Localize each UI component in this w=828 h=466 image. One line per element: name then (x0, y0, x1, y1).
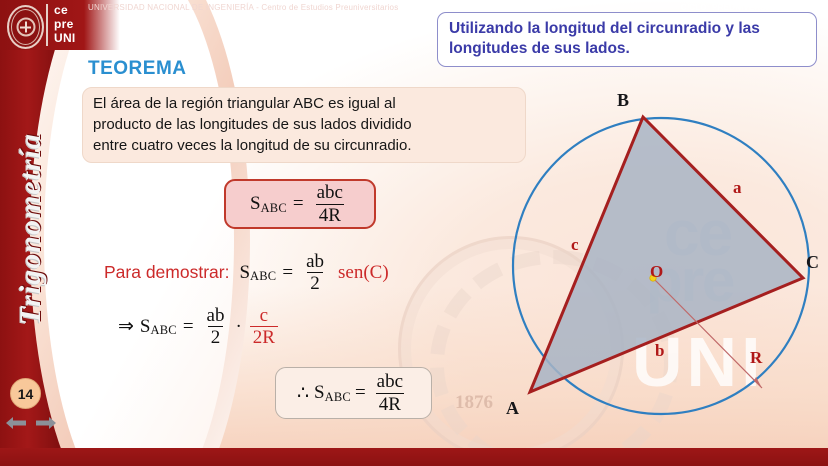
demostrar-lhs: S (239, 262, 250, 284)
step-lhs-sub: ABC (151, 323, 177, 338)
demostrar-lhs-sub: ABC (250, 269, 276, 284)
side-label-a: a (733, 178, 742, 198)
step-arrow: ⇒ (118, 315, 134, 338)
brand-logo-line-2: pre (54, 17, 76, 31)
step-row: ⇒ SABC = ab 2 · c 2R (118, 306, 282, 348)
step-fraction-1: ab 2 (204, 306, 228, 348)
demostrar-row: Para demostrar: SABC = ab 2 sen(C) (104, 252, 389, 294)
statement-line-2: producto de las longitudes de sus lados … (93, 114, 515, 135)
side-label-b: b (655, 341, 664, 361)
step-eq: = (183, 316, 194, 338)
page-number-badge: 14 (10, 378, 41, 409)
page-title: TEOREMA (88, 58, 187, 80)
formula-main-fraction: abc 4R (314, 183, 346, 225)
formula-main-expression: SABC = abc 4R (250, 183, 350, 225)
step-lhs: S (140, 316, 151, 338)
formula-main-box: SABC = abc 4R (224, 179, 376, 229)
center-label-o: O (650, 262, 663, 282)
course-title: Trigonometría (14, 114, 48, 344)
statement-line-1: El área de la región triangular ABC es i… (93, 93, 515, 114)
conclusion-expression: ∴ SABC = abc 4R (297, 372, 410, 414)
step-numerator-1: ab (204, 306, 228, 326)
conclusion-lhs: S (314, 382, 325, 404)
conclusion-therefore: ∴ (297, 382, 309, 405)
header-callout-text: Utilizando la longitud del circunradio y… (449, 20, 760, 57)
formula-main-lhs: S (250, 193, 261, 215)
brand-logo-line-1: ce (54, 3, 76, 17)
conclusion-fraction: abc 4R (374, 372, 406, 414)
step-numerator-2: c (257, 306, 271, 326)
formula-main-lhs-sub: ABC (261, 201, 287, 216)
step-dot: · (235, 316, 241, 338)
demostrar-sine-term: sen(C) (338, 262, 389, 284)
footer-cycle: CICLO: PREUNIVERSITARIO 2024-I (681, 3, 820, 12)
step-expression: ⇒ SABC = ab 2 · c 2R (118, 306, 282, 348)
formula-main-numerator: abc (314, 183, 346, 203)
demostrar-numerator: ab (303, 252, 327, 272)
conclusion-lhs-sub: ABC (325, 390, 351, 405)
conclusion-eq: = (355, 382, 366, 404)
slide-root: ce pre UNI 1876 B C A O a b c R Utilizan… (0, 0, 828, 466)
step-denominator-1: 2 (208, 326, 224, 347)
uni-seal-icon (7, 5, 44, 49)
formula-conclusion-box: ∴ SABC = abc 4R (275, 367, 432, 419)
theorem-statement: El área de la región triangular ABC es i… (82, 87, 526, 163)
demostrar-fraction: ab 2 (303, 252, 327, 294)
brand-logo-line-3: UNI (54, 31, 76, 45)
demostrar-expression: SABC = ab 2 sen(C) (239, 252, 388, 294)
step-denominator-2: 2R (250, 326, 278, 347)
vertex-label-b: B (617, 90, 629, 111)
vertex-label-c: C (806, 252, 819, 273)
slide-navigation[interactable] (6, 412, 56, 434)
header-callout: Utilizando la longitud del circunradio y… (437, 12, 817, 67)
footer-institution: UNIVERSIDAD NACIONAL DE INGENIERÍA - Cen… (88, 3, 398, 12)
side-label-c: c (571, 235, 579, 255)
brand-logo-text: ce pre UNI (54, 3, 76, 45)
formula-main-denominator: 4R (316, 204, 344, 225)
demostrar-eq: = (282, 262, 293, 284)
vertex-label-a: A (506, 398, 519, 419)
demostrar-denominator: 2 (307, 272, 323, 293)
step-fraction-2: c 2R (250, 306, 278, 348)
logo-divider (46, 4, 48, 46)
radius-label-r: R (750, 348, 762, 368)
conclusion-numerator: abc (374, 372, 406, 392)
demostrar-label: Para demostrar: (104, 262, 229, 283)
formula-main-eq: = (293, 193, 304, 215)
footer-bar (0, 448, 828, 466)
arrow-right-icon[interactable] (36, 415, 56, 431)
arrow-left-icon[interactable] (6, 415, 26, 431)
statement-line-3: entre cuatro veces la longitud de su cir… (93, 135, 515, 156)
conclusion-denominator: 4R (376, 393, 404, 414)
